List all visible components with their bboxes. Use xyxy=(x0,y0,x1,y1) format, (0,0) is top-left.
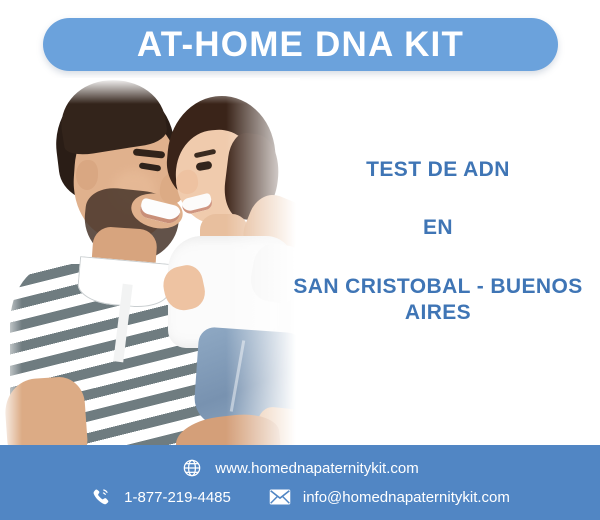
dna-kit-poster: AT-HOME DNA KIT xyxy=(0,0,600,520)
phone-icon xyxy=(90,486,112,508)
footer-email-label: info@homednapaternitykit.com xyxy=(303,490,510,505)
family-photo xyxy=(0,78,300,456)
footer-phone-label: 1-877-219-4485 xyxy=(124,490,231,505)
footer-email-item[interactable]: info@homednapaternitykit.com xyxy=(269,486,510,508)
headline-block: TEST DE ADN EN SAN CRISTOBAL - BUENOS AI… xyxy=(276,158,600,327)
footer-website-label: www.homednapaternitykit.com xyxy=(215,461,418,476)
footer-contact-row: 1-877-219-4485 info@homednapaternitykit.… xyxy=(0,486,600,508)
header-badge: AT-HOME DNA KIT xyxy=(43,18,558,71)
header-badge-label: AT-HOME DNA KIT xyxy=(137,27,464,62)
footer-bar: www.homednapaternitykit.com 1-877-219-44… xyxy=(0,445,600,520)
photo-canvas xyxy=(0,78,300,456)
headline-line-test: TEST DE ADN xyxy=(276,158,600,183)
envelope-icon xyxy=(269,486,291,508)
headline-line-en: EN xyxy=(276,216,600,241)
footer-phone-item[interactable]: 1-877-219-4485 xyxy=(90,486,231,508)
footer-website-item[interactable]: www.homednapaternitykit.com xyxy=(181,457,418,479)
globe-icon xyxy=(181,457,203,479)
father-ear xyxy=(76,160,98,190)
photo-left-fade xyxy=(0,78,22,456)
footer-website-row: www.homednapaternitykit.com xyxy=(0,457,600,479)
headline-line-location: SAN CRISTOBAL - BUENOS AIRES xyxy=(276,274,600,328)
